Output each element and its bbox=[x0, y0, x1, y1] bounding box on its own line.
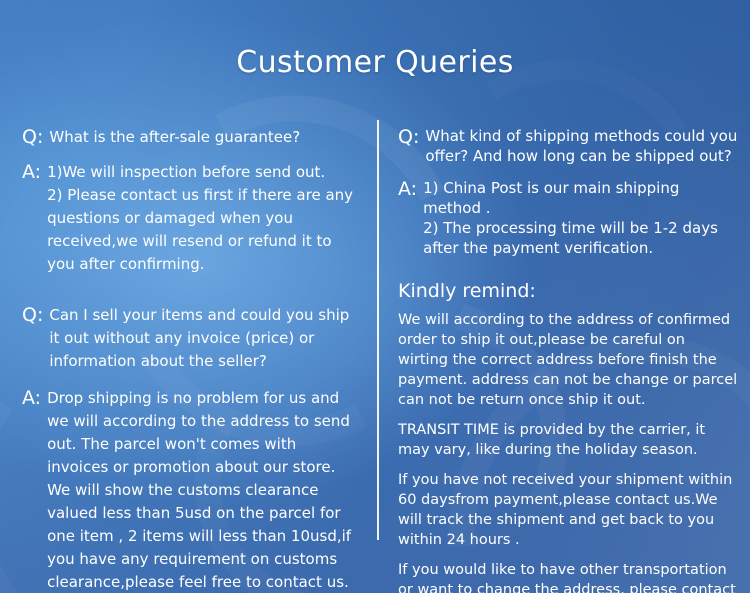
kindly-remind-heading: Kindly remind: bbox=[398, 278, 738, 304]
column-divider bbox=[377, 120, 379, 540]
qa-block: Q: Can I sell your items and could you s… bbox=[22, 304, 362, 593]
answer-row: A: Drop shipping is no problem for us an… bbox=[22, 387, 362, 593]
answer-text: 1) China Post is our main shipping metho… bbox=[423, 178, 738, 258]
kindly-remind-paragraph: If you have not received your shipment w… bbox=[398, 470, 738, 550]
answer-label: A: bbox=[398, 178, 423, 200]
customer-queries-banner: Customer Queries Q: What is the after-sa… bbox=[0, 0, 750, 593]
question-row: Q: What kind of shipping methods could y… bbox=[398, 126, 738, 166]
qa-block: Q: What is the after-sale guarantee? A: … bbox=[22, 126, 362, 276]
kindly-remind-paragraph: We will according to the address of conf… bbox=[398, 310, 738, 410]
answer-row: A: 1)We will inspection before send out.… bbox=[22, 161, 362, 276]
question-text: What kind of shipping methods could you … bbox=[425, 126, 738, 166]
question-text: What is the after-sale guarantee? bbox=[49, 126, 362, 149]
question-row: Q: What is the after-sale guarantee? bbox=[22, 126, 362, 149]
kindly-remind-section: Kindly remind: We will according to the … bbox=[398, 278, 738, 593]
question-row: Q: Can I sell your items and could you s… bbox=[22, 304, 362, 373]
answer-label: A: bbox=[22, 387, 47, 409]
question-label: Q: bbox=[22, 304, 49, 326]
answer-row: A: 1) China Post is our main shipping me… bbox=[398, 178, 738, 258]
kindly-remind-paragraph: TRANSIT TIME is provided by the carrier,… bbox=[398, 420, 738, 460]
right-column: Q: What kind of shipping methods could y… bbox=[398, 126, 738, 593]
question-text: Can I sell your items and could you ship… bbox=[49, 304, 362, 373]
qa-block: Q: What kind of shipping methods could y… bbox=[398, 126, 738, 258]
question-label: Q: bbox=[398, 126, 425, 148]
answer-text: 1)We will inspection before send out. 2)… bbox=[47, 161, 362, 276]
kindly-remind-paragraph: If you would like to have other transpor… bbox=[398, 560, 738, 593]
answer-text: Drop shipping is no problem for us and w… bbox=[47, 387, 362, 593]
left-column: Q: What is the after-sale guarantee? A: … bbox=[22, 126, 362, 593]
page-title: Customer Queries bbox=[0, 45, 750, 80]
question-label: Q: bbox=[22, 126, 49, 148]
answer-label: A: bbox=[22, 161, 47, 183]
